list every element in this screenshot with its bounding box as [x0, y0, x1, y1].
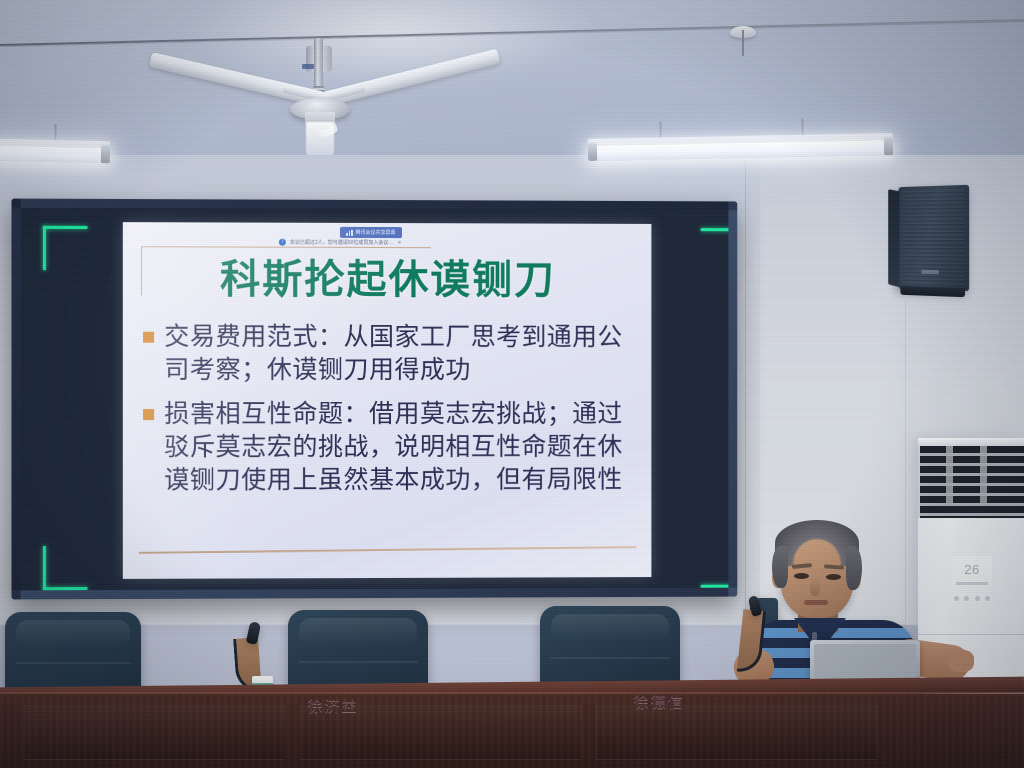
tracking-bracket-bottom-right [701, 544, 729, 588]
tracking-bracket-top-left [43, 226, 88, 270]
conference-table-front [0, 694, 1024, 768]
slide-bullet-text: 交易费用范式：从国家工厂思考到通用公司考察；休谟铡刀用得成功 [164, 321, 634, 387]
bullet-marker-icon [143, 409, 154, 420]
slide-bullet-list: 交易费用范式：从国家工厂思考到通用公司考察；休谟铡刀用得成功 损害相互性命题：借… [143, 321, 635, 509]
cable-drop [742, 30, 744, 56]
lamp-endcap [588, 143, 597, 161]
name-plate-text: 徐济益 [307, 695, 358, 716]
ac-button[interactable] [985, 596, 990, 601]
fluorescent-tube-left [0, 139, 110, 167]
slide-bullet-item: 交易费用范式：从国家工厂思考到通用公司考察；休谟铡刀用得成功 [143, 321, 635, 387]
slide-title: 科斯抡起休谟铡刀 [123, 246, 652, 305]
meeting-notice-bar[interactable]: i 会议已超过2人，您可邀请50位成员加入会议… ✕ [279, 239, 402, 246]
slide: 腾讯会议共享屏幕 i 会议已超过2人，您可邀请50位成员加入会议… ✕ 科斯抡起… [123, 222, 652, 579]
ac-vent-louvers [918, 446, 1024, 518]
screen-surface: 屏幕中… ▾ 腾讯会议共享屏幕 i 会议已超过2人，您可邀请50位成员加入会议…… [21, 208, 729, 591]
ceiling-fan [318, 38, 322, 42]
table-panel [24, 704, 286, 760]
lamp-endcap [884, 137, 893, 155]
presenter-right-hand [948, 650, 974, 672]
meeting-notice-text: 会议已超过2人，您可邀请50位成员加入会议… [290, 239, 393, 246]
presenter-nose [810, 578, 820, 596]
wall-speaker [898, 185, 969, 291]
slide-bullet-item: 损害相互性命题：借用莫志宏挑战；通过驳斥莫志宏的挑战，说明相互性命题在休谟铡刀使… [143, 398, 635, 497]
tracking-bracket-top-right [701, 228, 729, 272]
ac-louver-tab [946, 446, 953, 506]
fan-badge [302, 64, 314, 69]
lamp-tube [0, 146, 107, 163]
lecture-hall-photo: 26 屏幕中… ▾ [0, 0, 1024, 768]
ac-louver-tab [980, 446, 987, 506]
speaker-logo [921, 270, 939, 274]
slide-bottom-rule [139, 546, 637, 553]
slide-bullet-text: 损害相互性命题：借用莫志宏挑战；通过驳斥莫志宏的挑战，说明相互性命题在休谟铡刀使… [164, 398, 634, 497]
bullet-marker-icon [143, 332, 154, 343]
speaker-side [888, 189, 899, 287]
gooseneck-microphone [736, 596, 770, 682]
presenter-eye [826, 574, 841, 580]
name-plate-text: 徐德信 [633, 691, 684, 712]
presenter-mouth [804, 600, 828, 605]
screen-share-chip[interactable]: 腾讯会议共享屏幕 [340, 227, 402, 238]
mic-head-icon [246, 621, 261, 645]
ac-button[interactable] [975, 596, 980, 601]
tracking-bracket-bottom-left [43, 546, 88, 590]
presenter-hair-side [772, 546, 788, 588]
screen-share-label: 腾讯会议共享屏幕 [355, 229, 395, 236]
close-icon[interactable]: ✕ [397, 240, 401, 246]
ac-top-edge [918, 438, 1024, 446]
table-panel [596, 704, 878, 760]
presenter-hair-side [846, 546, 862, 590]
share-signal-icon [346, 229, 353, 235]
lamp-endcap [101, 145, 110, 163]
presenter-eye [794, 573, 809, 579]
mic-neck [737, 609, 766, 674]
presentation-screen[interactable]: 屏幕中… ▾ 腾讯会议共享屏幕 i 会议已超过2人，您可邀请50位成员加入会议…… [11, 199, 737, 600]
info-icon: i [279, 239, 286, 246]
